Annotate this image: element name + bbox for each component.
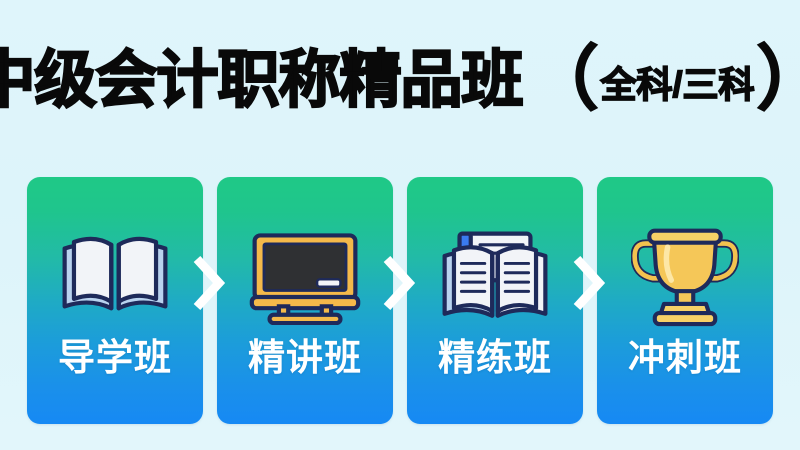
course-card-jinglianban[interactable]: 精练班 (407, 177, 583, 424)
trophy-icon (631, 217, 739, 335)
course-card-label: 精讲班 (248, 339, 362, 376)
title-main-text: 中级会计职称精品班 (0, 50, 523, 112)
open-book-icon (59, 217, 171, 335)
course-card-daoxueban[interactable]: 导学班 (27, 177, 203, 424)
title-paren-right: ） (757, 44, 800, 114)
course-poster: 中级会计职称精品班 （ 全科/三科 ） 导学班 (0, 0, 800, 450)
blackboard-icon (248, 217, 362, 335)
title-paren-left: （ (529, 44, 599, 114)
course-card-jingjiangban[interactable]: 精讲班 (217, 177, 393, 424)
course-card-label: 精练班 (438, 339, 552, 376)
title-subtitle-text: 全科/三科 (601, 67, 755, 103)
course-card-label: 冲刺班 (628, 339, 742, 376)
textbook-icon (439, 217, 551, 335)
page-title: 中级会计职称精品班 （ 全科/三科 ） (0, 46, 800, 116)
course-card-chongciban[interactable]: 冲刺班 (597, 177, 773, 424)
course-stage-list: 导学班 精讲班 (27, 177, 773, 424)
course-card-label: 导学班 (58, 339, 172, 376)
